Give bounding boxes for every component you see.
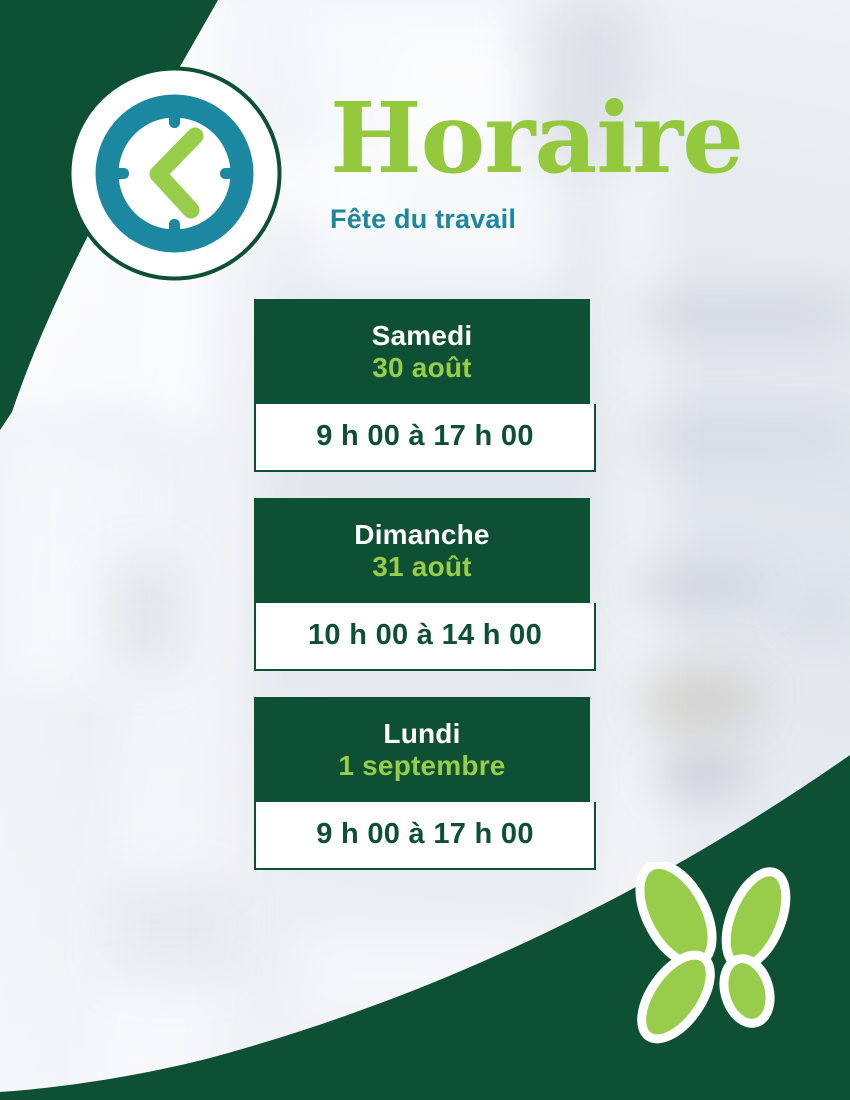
clock-icon	[67, 66, 282, 281]
schedule-date: 30 août	[254, 351, 590, 385]
schedule-list: Samedi 30 août 9 h 00 à 17 h 00 Dimanche…	[254, 299, 596, 870]
schedule-poster: Horaire Fête du travail Samedi 30 août 9…	[0, 0, 850, 1100]
schedule-day: Samedi	[254, 320, 590, 351]
schedule-hours: 9 h 00 à 17 h 00	[256, 420, 594, 453]
schedule-card: Lundi 1 septembre 9 h 00 à 17 h 00	[254, 697, 596, 870]
page-subtitle: Fête du travail	[330, 204, 830, 235]
schedule-date: 31 août	[254, 550, 590, 584]
schedule-card: Samedi 30 août 9 h 00 à 17 h 00	[254, 299, 596, 472]
page-title: Horaire	[330, 88, 830, 190]
schedule-hours: 10 h 00 à 14 h 00	[256, 619, 594, 652]
schedule-card-body: 10 h 00 à 14 h 00	[254, 603, 596, 671]
schedule-date: 1 septembre	[254, 749, 590, 783]
schedule-hours: 9 h 00 à 17 h 00	[256, 818, 594, 851]
schedule-card-header: Dimanche 31 août	[254, 498, 590, 603]
title-block: Horaire Fête du travail	[330, 88, 830, 235]
schedule-card-body: 9 h 00 à 17 h 00	[254, 802, 596, 870]
schedule-card-body: 9 h 00 à 17 h 00	[254, 404, 596, 472]
schedule-card-header: Lundi 1 septembre	[254, 697, 590, 802]
schedule-day: Lundi	[254, 718, 590, 749]
schedule-card: Dimanche 31 août 10 h 00 à 14 h 00	[254, 498, 596, 671]
schedule-day: Dimanche	[254, 519, 590, 550]
schedule-card-header: Samedi 30 août	[254, 299, 590, 404]
flower-ornament-icon	[620, 862, 820, 1047]
